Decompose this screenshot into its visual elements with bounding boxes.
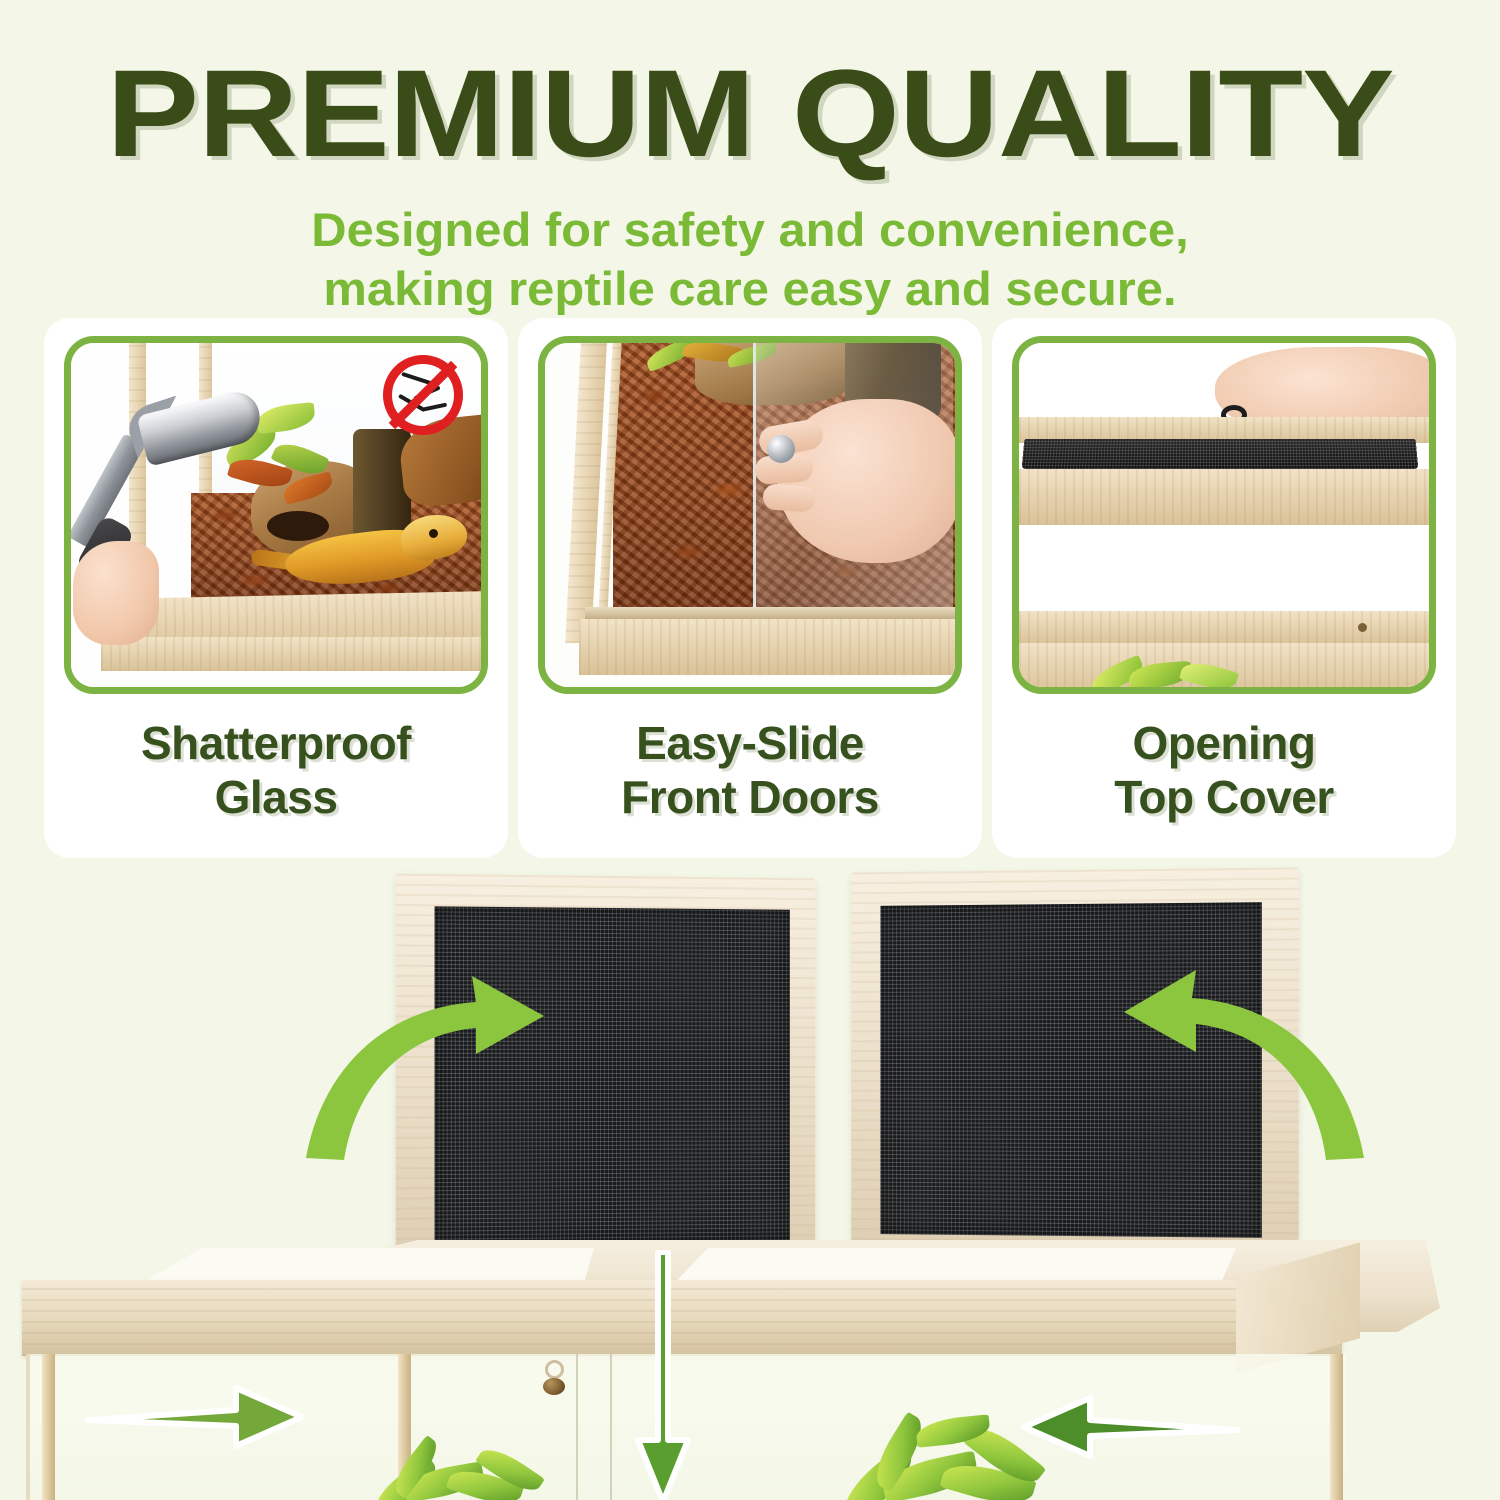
plant-decor-left bbox=[360, 1404, 570, 1500]
label-line-1: Easy-Slide bbox=[518, 716, 982, 770]
label-line-2: Front Doors bbox=[518, 770, 982, 824]
wood-rail bbox=[1019, 611, 1429, 645]
subtitle-line-2: making reptile care easy and secure. bbox=[0, 259, 1500, 318]
shatterproof-glass-photo bbox=[64, 336, 488, 694]
door-seam bbox=[576, 1354, 578, 1500]
tank-corner-post bbox=[1330, 1354, 1343, 1500]
curved-arrow-left-icon bbox=[1110, 962, 1370, 1162]
feature-card-label: Easy-Slide Front Doors bbox=[518, 716, 982, 825]
mesh-top-cover[interactable] bbox=[1022, 439, 1419, 469]
easy-slide-front-doors-photo bbox=[538, 336, 962, 694]
label-line-1: Opening bbox=[992, 716, 1456, 770]
tank-corner-post bbox=[42, 1354, 55, 1500]
feature-card-label: Shatterproof Glass bbox=[44, 716, 508, 825]
label-line-2: Glass bbox=[44, 770, 508, 824]
bearded-dragon-eye bbox=[429, 529, 438, 538]
label-line-2: Top Cover bbox=[992, 770, 1456, 824]
door-knob[interactable] bbox=[767, 435, 795, 463]
feature-card-easy-slide-front-doors[interactable]: Easy-Slide Front Doors bbox=[518, 318, 982, 858]
arrow-left-icon bbox=[1000, 1392, 1240, 1462]
label-line-1: Shatterproof bbox=[44, 716, 508, 770]
hand-sliding-door bbox=[777, 399, 961, 563]
feature-card-opening-top-cover[interactable]: Opening Top Cover bbox=[992, 318, 1456, 858]
hand-holding-hammer bbox=[73, 541, 159, 645]
arrow-down-icon bbox=[626, 1250, 700, 1500]
product-photo bbox=[0, 862, 1500, 1500]
plant-decor bbox=[1089, 645, 1249, 687]
page-subtitle: Designed for safety and convenience, mak… bbox=[0, 200, 1500, 318]
screw-detail bbox=[1358, 623, 1367, 632]
wood-rail bbox=[1019, 469, 1429, 525]
feature-card-row: Shatterproof Glass bbox=[44, 318, 1456, 858]
feature-card-shatterproof-glass[interactable]: Shatterproof Glass bbox=[44, 318, 508, 858]
opening-top-cover-photo bbox=[1012, 336, 1436, 694]
curved-arrow-right-icon bbox=[300, 972, 560, 1162]
no-crack-icon bbox=[383, 355, 463, 435]
feature-card-label: Opening Top Cover bbox=[992, 716, 1456, 825]
door-lock-knob[interactable] bbox=[543, 1378, 565, 1395]
arrow-right-icon bbox=[86, 1382, 306, 1452]
infographic-page: PREMIUM QUALITY Designed for safety and … bbox=[0, 0, 1500, 1500]
door-seam bbox=[610, 1354, 612, 1500]
subtitle-line-1: Designed for safety and convenience, bbox=[0, 200, 1500, 259]
page-title: PREMIUM QUALITY bbox=[0, 52, 1500, 176]
wood-base-rail bbox=[579, 619, 962, 675]
lock-ring-icon bbox=[545, 1360, 564, 1379]
wood-base-rail bbox=[101, 637, 488, 671]
